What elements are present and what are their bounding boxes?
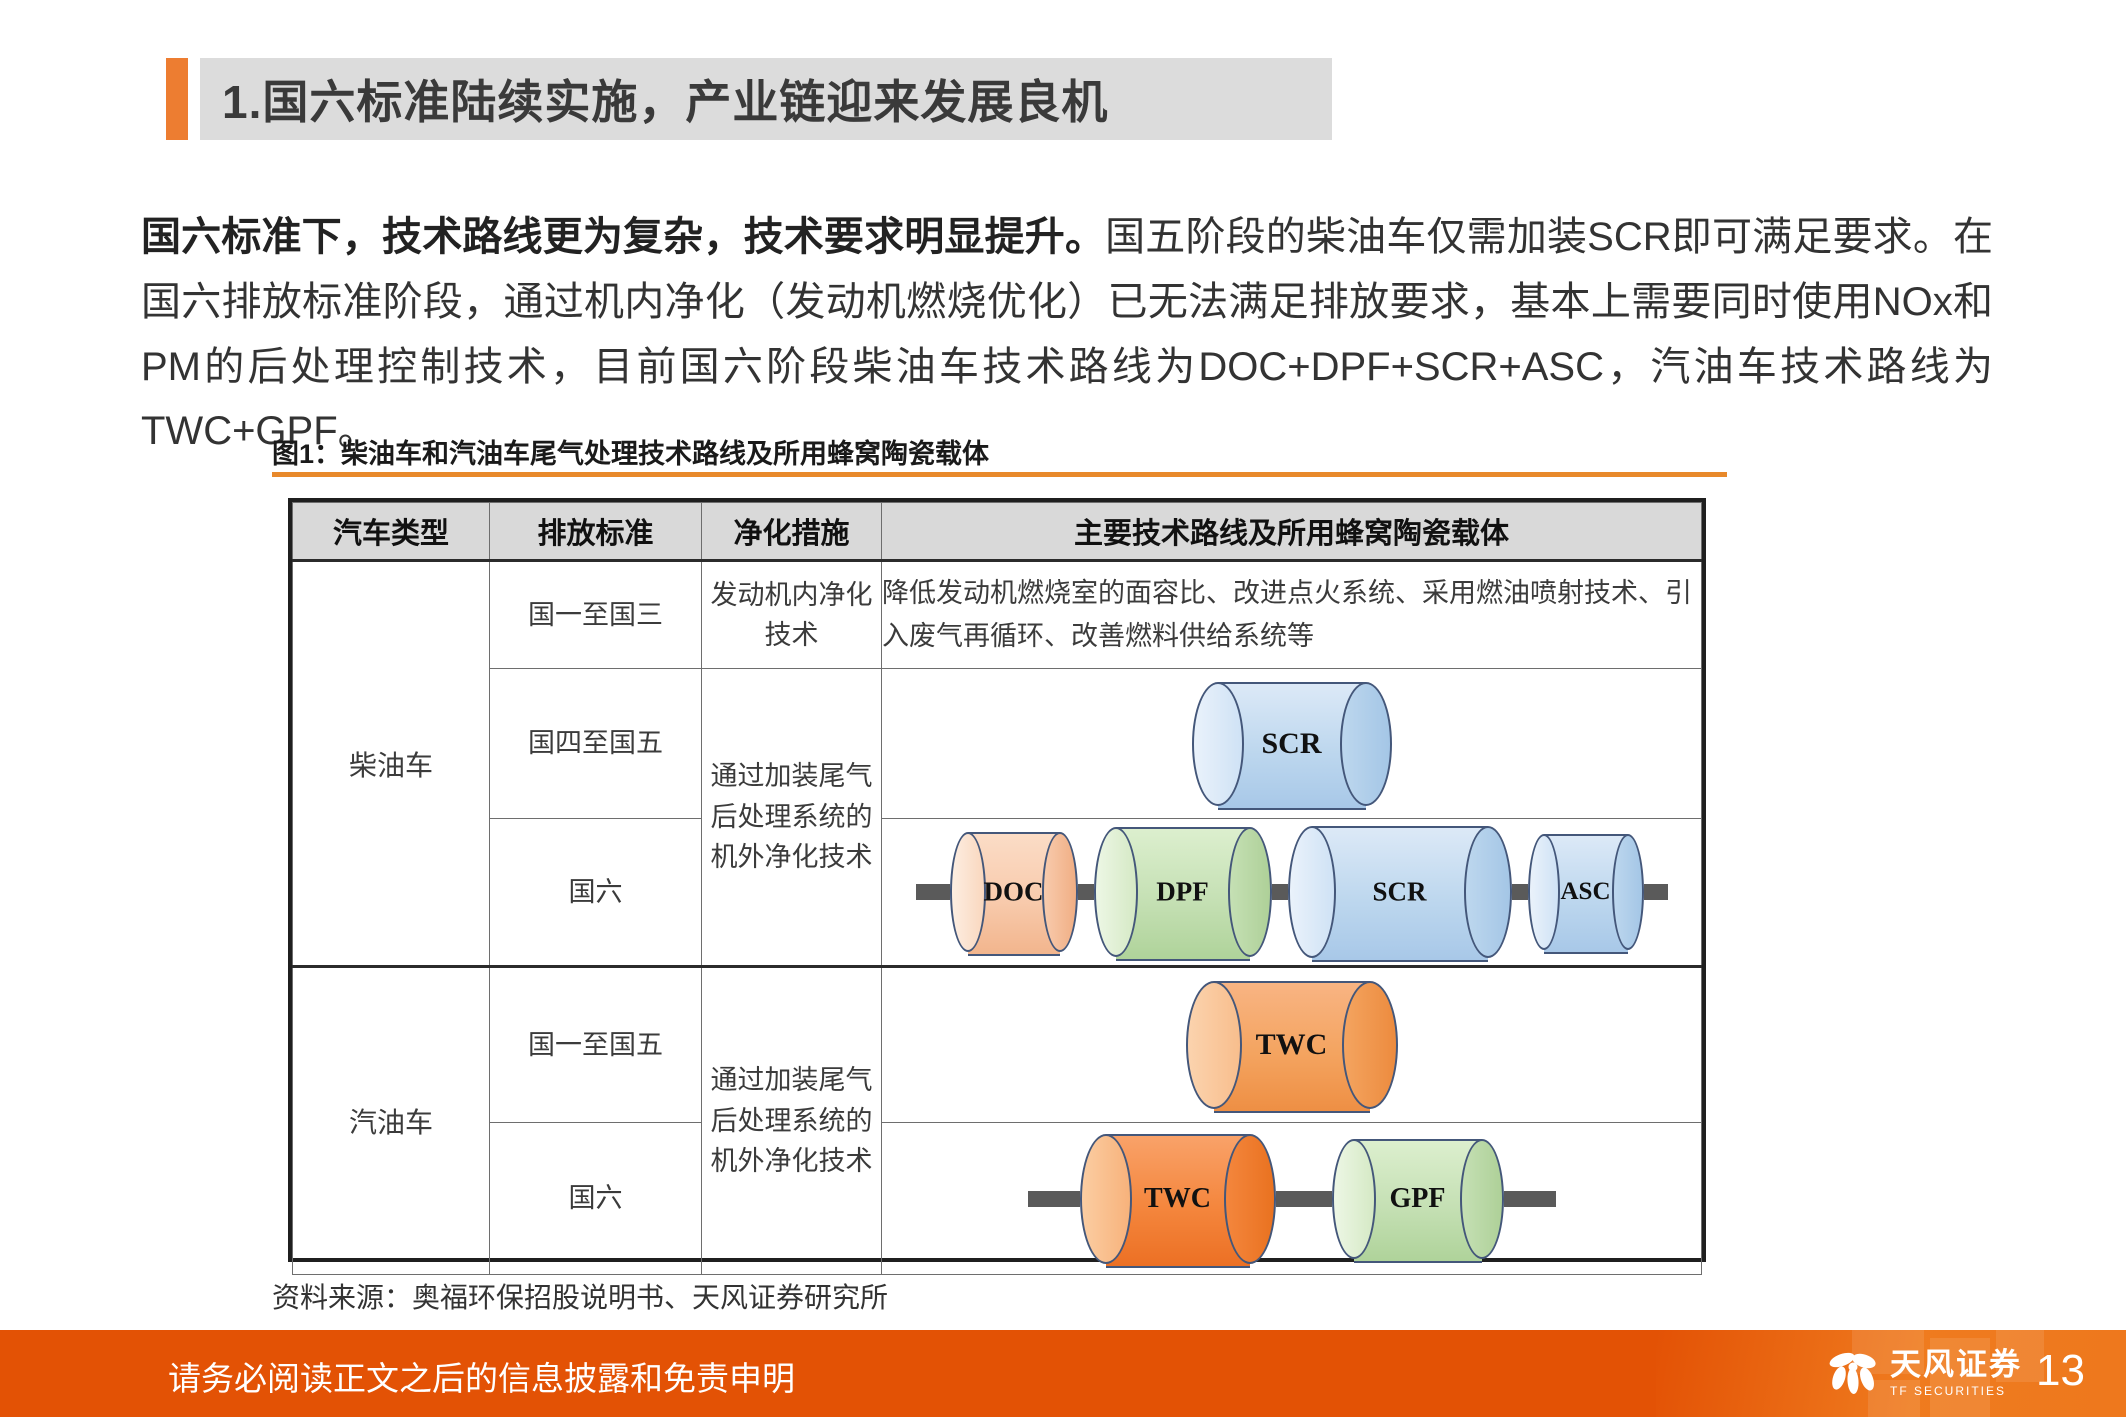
pipe-inlet bbox=[1028, 1191, 1080, 1207]
table-row: 国四至国五 通过加装尾气后处理系统的机外净化技术 SCR bbox=[293, 669, 1702, 819]
pipe-outlet bbox=[1504, 1191, 1556, 1207]
cell-vehicle-diesel: 柴油车 bbox=[293, 561, 490, 967]
logo-english-name: TF SECURITIES bbox=[1890, 1384, 2022, 1398]
cell-route-diagram-scr: SCR bbox=[882, 669, 1702, 819]
logo-chinese-name: 天风证券 bbox=[1890, 1349, 2022, 1380]
title-box: 1.国六标准陆续实施，产业链迎来发展良机 bbox=[200, 58, 1332, 140]
diagram-doc-dpf-scr-asc: DOC DPF bbox=[882, 819, 1701, 965]
pipe-outlet bbox=[1644, 884, 1668, 900]
title-text: 1.国六标准陆续实施，产业链迎来发展良机 bbox=[200, 66, 1108, 132]
cell-measure-aftertreatment-diesel: 通过加装尾气后处理系统的机外净化技术 bbox=[702, 669, 882, 967]
paragraph-lead: 国六标准下，技术路线更为复杂，技术要求明显提升。 bbox=[141, 215, 1105, 259]
cell-route-diagram-doc-dpf-scr-asc: DOC DPF bbox=[882, 819, 1702, 967]
diagram-scr: SCR bbox=[882, 669, 1701, 818]
cylinder-dpf: DPF bbox=[1094, 827, 1272, 957]
diagram-twc: TWC bbox=[882, 968, 1701, 1122]
cell-route-diagram-twc-gpf: TWC GPF bbox=[882, 1123, 1702, 1275]
table-row: 柴油车 国一至国三 发动机内净化技术 降低发动机燃烧室的面容比、改进点火系统、采… bbox=[293, 561, 1702, 669]
diagram-twc-gpf: TWC GPF bbox=[882, 1123, 1701, 1274]
cylinder-gpf: GPF bbox=[1332, 1139, 1504, 1259]
flower-logo-icon bbox=[1826, 1348, 1880, 1398]
cell-standard-g6-gasoline: 国六 bbox=[490, 1123, 702, 1275]
cell-standard-g6-diesel: 国六 bbox=[490, 819, 702, 967]
cylinder-label: DPF bbox=[1094, 877, 1272, 908]
cylinder-label: TWC bbox=[1080, 1183, 1276, 1215]
cylinder-scr: SCR bbox=[1192, 682, 1392, 806]
pipe-connector bbox=[1272, 884, 1288, 900]
table-header-vehicle-type: 汽车类型 bbox=[293, 503, 490, 561]
cell-route-diagram-twc: TWC bbox=[882, 967, 1702, 1123]
footer-disclaimer: 请务必阅读正文之后的信息披露和免责申明 bbox=[168, 1352, 795, 1400]
cell-route-text-g1g3: 降低发动机燃烧室的面容比、改进点火系统、采用燃油喷射技术、引入废气再循环、改善燃… bbox=[882, 561, 1702, 669]
figure-source: 资料来源：奥福环保招股说明书、天风证券研究所 bbox=[272, 1276, 888, 1316]
cylinder-label: ASC bbox=[1528, 878, 1644, 906]
cylinder-scr: SCR bbox=[1288, 826, 1512, 958]
cylinder-twc: TWC bbox=[1080, 1134, 1276, 1264]
figure-rule bbox=[272, 472, 1727, 477]
cylinder-label: GPF bbox=[1332, 1183, 1504, 1215]
title-accent-bar bbox=[166, 58, 188, 140]
pipe-connector bbox=[1276, 1191, 1332, 1207]
cell-vehicle-gasoline: 汽油车 bbox=[293, 967, 490, 1275]
cell-measure-aftertreatment-gasoline: 通过加装尾气后处理系统的机外净化技术 bbox=[702, 967, 882, 1275]
cylinder-twc: TWC bbox=[1186, 981, 1398, 1109]
slide-page: 1.国六标准陆续实施，产业链迎来发展良机 国六标准下，技术路线更为复杂，技术要求… bbox=[0, 0, 2126, 1417]
body-paragraph: 国六标准下，技术路线更为复杂，技术要求明显提升。国五阶段的柴油车仅需加装SCR即… bbox=[141, 205, 1993, 464]
cylinder-doc: DOC bbox=[950, 832, 1078, 952]
cylinder-label: DOC bbox=[950, 877, 1078, 908]
cylinder-row: SCR bbox=[1192, 682, 1392, 806]
page-number: 13 bbox=[2036, 1346, 2085, 1396]
cylinder-label: SCR bbox=[1192, 727, 1392, 761]
cell-measure-engine-internal: 发动机内净化技术 bbox=[702, 561, 882, 669]
cylinder-row: TWC GPF bbox=[1028, 1134, 1556, 1264]
cylinder-label: SCR bbox=[1288, 877, 1512, 908]
pipe-inlet bbox=[916, 884, 950, 900]
company-logo: 天风证券 TF SECURITIES bbox=[1826, 1348, 2022, 1398]
table-row: 国六 TWC bbox=[293, 1123, 1702, 1275]
cylinder-row: TWC bbox=[1186, 981, 1398, 1109]
page-title: 1.国六标准陆续实施，产业链迎来发展良机 bbox=[166, 58, 1332, 140]
figure-caption: 图1：柴油车和汽油车尾气处理技术路线及所用蜂窝陶瓷载体 bbox=[272, 432, 989, 471]
pipe-connector bbox=[1512, 884, 1528, 900]
cell-standard-g4g5: 国四至国五 bbox=[490, 669, 702, 819]
table-row: 汽油车 国一至国五 通过加装尾气后处理系统的机外净化技术 TWC bbox=[293, 967, 1702, 1123]
technology-route-table: 汽车类型 排放标准 净化措施 主要技术路线及所用蜂窝陶瓷载体 柴油车 国一至国三… bbox=[288, 498, 1706, 1262]
pipe-connector bbox=[1078, 884, 1094, 900]
table-row: 国六 DOC bbox=[293, 819, 1702, 967]
cell-standard-g1g5: 国一至国五 bbox=[490, 967, 702, 1123]
table-header-emission-standard: 排放标准 bbox=[490, 503, 702, 561]
cylinder-label: TWC bbox=[1186, 1028, 1398, 1062]
table-header-row: 汽车类型 排放标准 净化措施 主要技术路线及所用蜂窝陶瓷载体 bbox=[293, 503, 1702, 561]
cell-standard-g1g3: 国一至国三 bbox=[490, 561, 702, 669]
cylinder-asc: ASC bbox=[1528, 834, 1644, 950]
table-header-main-route: 主要技术路线及所用蜂窝陶瓷载体 bbox=[882, 503, 1702, 561]
cylinder-row: DOC DPF bbox=[916, 826, 1668, 958]
table-header-purification-measure: 净化措施 bbox=[702, 503, 882, 561]
